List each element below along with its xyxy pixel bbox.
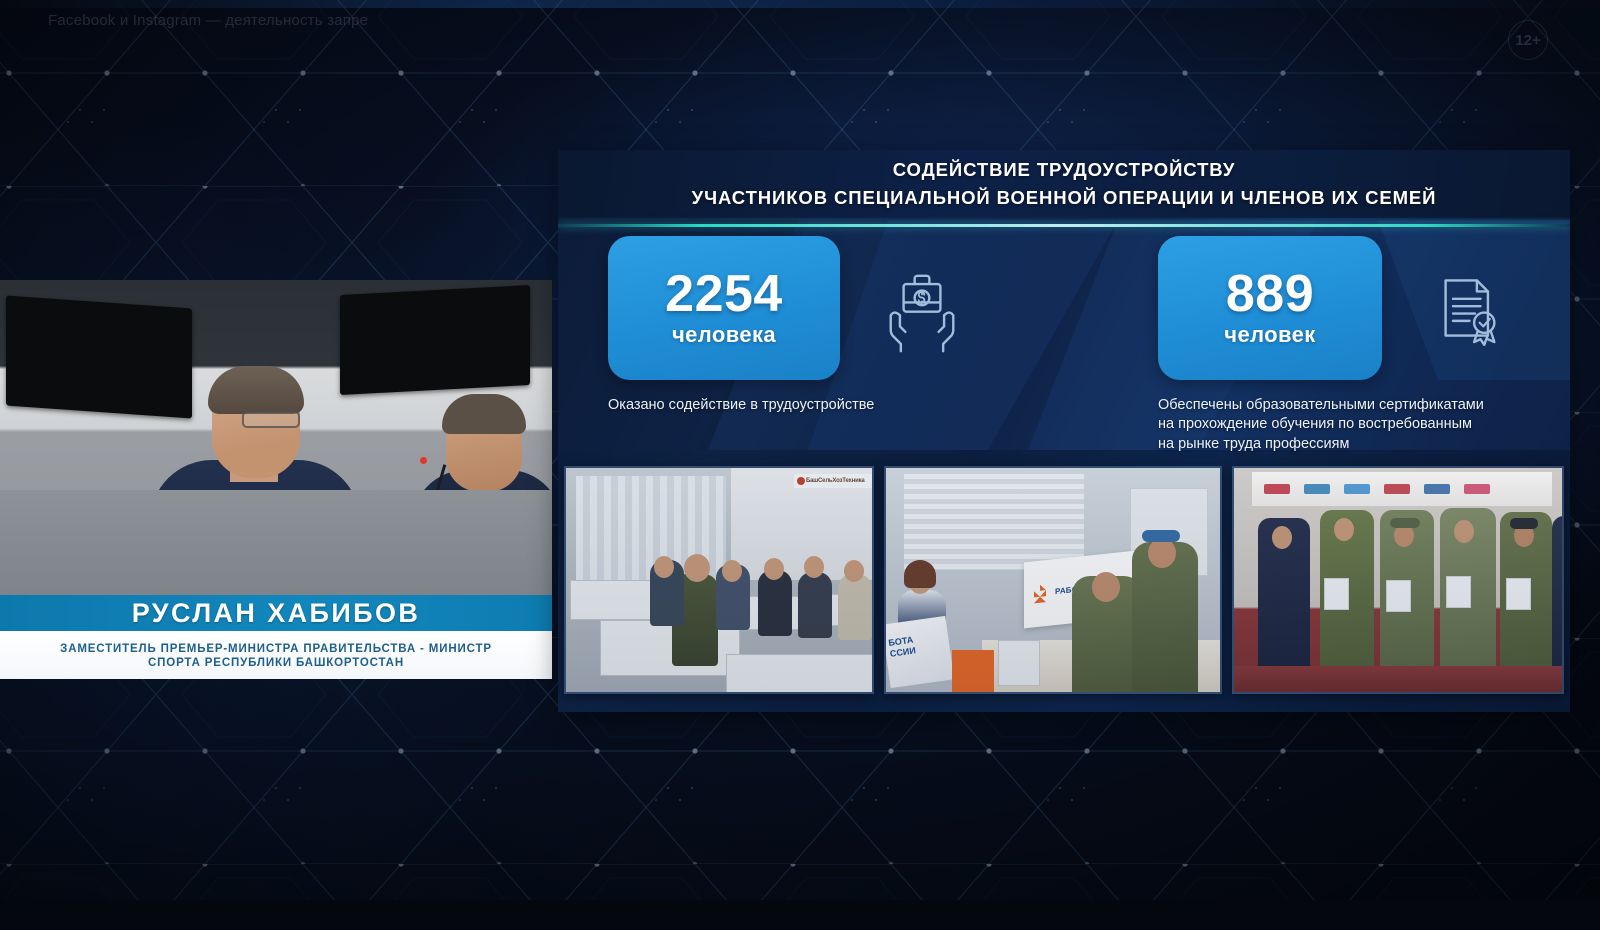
stat-unit-certificates: человек bbox=[1224, 322, 1315, 348]
age-rating-badge: 12+ bbox=[1508, 20, 1548, 60]
speaker-name: РУСЛАН ХАБИБОВ bbox=[132, 598, 421, 629]
stat-card-certificates: 889 человек bbox=[1158, 236, 1382, 380]
photo-employment-center: РАБОТА РОССИИ БОТАССИИ bbox=[884, 466, 1222, 694]
monitor-right bbox=[340, 285, 530, 395]
photo-tint-overlay bbox=[566, 468, 872, 692]
video-feed bbox=[0, 280, 552, 610]
stat-caption-employment: Оказано содействие в трудоустройстве bbox=[608, 396, 1028, 415]
broadcast-watermark-text: Facebook и Instagram — деятельность запр… bbox=[48, 12, 368, 34]
speaker-role-line-2: СПОРТА РЕСПУБЛИКИ БАШКОРТОСТАН bbox=[148, 657, 404, 669]
briefcase-in-hands-icon bbox=[876, 262, 968, 354]
certificate-document-icon bbox=[1418, 262, 1510, 354]
stat-caption-line-1: Обеспечены образовательными сертификатам… bbox=[1158, 396, 1518, 415]
stat-row-certificates: 889 человек bbox=[1158, 236, 1558, 380]
stat-unit-employment: человека bbox=[672, 322, 776, 348]
stat-value-certificates: 889 bbox=[1226, 268, 1314, 320]
lower-third-role-bar: ЗАМЕСТИТЕЛЬ ПРЕМЬЕР-МИНИСТРА ПРАВИТЕЛЬСТ… bbox=[0, 631, 552, 679]
photo-tint-overlay bbox=[886, 468, 1220, 692]
speaker-glasses bbox=[242, 411, 300, 428]
slide-divider-line bbox=[558, 224, 1570, 227]
second-attendee-hair bbox=[442, 394, 526, 434]
slide-photo-strip: БашСельХозТехника bbox=[558, 466, 1570, 704]
slide-statistics: 2254 человека Оказано bbox=[558, 236, 1570, 431]
stat-caption-certificates: Обеспечены образовательными сертификатам… bbox=[1158, 396, 1518, 454]
lower-third-name-bar: РУСЛАН ХАБИБОВ bbox=[0, 595, 552, 631]
stat-row-employment: 2254 человека bbox=[608, 236, 1028, 380]
stat-caption-line-2: на прохождение обучения по востребованны… bbox=[1158, 415, 1518, 434]
stat-caption-line-3: на рынке труда профессиям bbox=[1158, 435, 1518, 454]
stat-block-certificates: 889 человек Обеспечены образовательн bbox=[1158, 236, 1558, 454]
stat-card-employment: 2254 человека bbox=[608, 236, 840, 380]
speaker-hair bbox=[208, 366, 304, 414]
stat-block-employment: 2254 человека Оказано bbox=[608, 236, 1028, 415]
presentation-slide: СОДЕЙСТВИЕ ТРУДОУСТРОЙСТВУ УЧАСТНИКОВ СП… bbox=[558, 150, 1570, 712]
photo-training-classroom: БашСельХозТехника bbox=[564, 466, 874, 694]
speaker-role-line-1: ЗАМЕСТИТЕЛЬ ПРЕМЬЕР-МИНИСТРА ПРАВИТЕЛЬСТ… bbox=[60, 643, 492, 655]
stat-value-employment: 2254 bbox=[665, 268, 783, 320]
photo-tint-overlay bbox=[1234, 468, 1562, 692]
slide-title-line-2: УЧАСТНИКОВ СПЕЦИАЛЬНОЙ ВОЕННОЙ ОПЕРАЦИИ … bbox=[692, 186, 1437, 210]
slide-header: СОДЕЙСТВИЕ ТРУДОУСТРОЙСТВУ УЧАСТНИКОВ СП… bbox=[558, 150, 1570, 218]
photo-certificate-ceremony bbox=[1232, 466, 1564, 694]
desk-surface bbox=[0, 490, 552, 610]
broadcast-stage: Facebook и Instagram — деятельность запр… bbox=[0, 0, 1600, 900]
slide-title-line-1: СОДЕЙСТВИЕ ТРУДОУСТРОЙСТВУ bbox=[893, 158, 1236, 182]
microphone-indicator-light bbox=[420, 457, 427, 464]
